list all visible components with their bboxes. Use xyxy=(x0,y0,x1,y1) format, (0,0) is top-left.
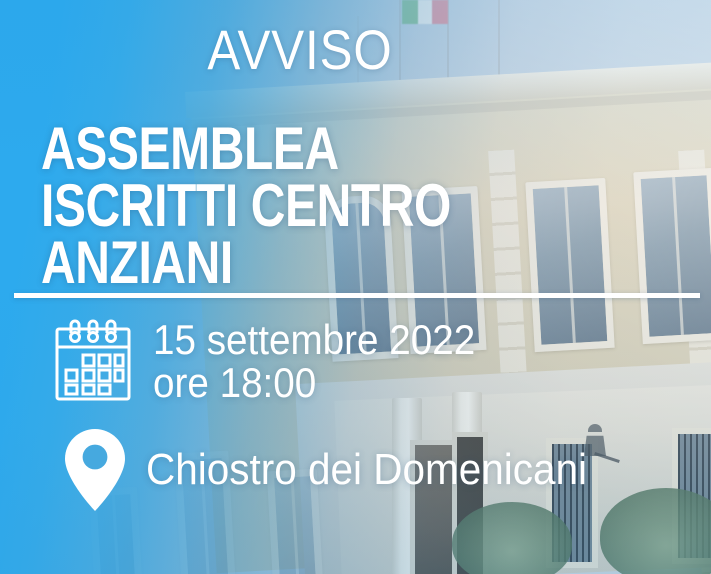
map-pin-icon xyxy=(62,425,128,515)
poster-content: AVVISO ASSEMBLEA ISCRITTI CENTRO ANZIANI xyxy=(0,0,711,574)
date-line-1: 15 settembre 2022 xyxy=(153,318,475,361)
headline: ASSEMBLEA ISCRITTI CENTRO ANZIANI xyxy=(41,120,569,291)
place-row: Chiostro dei Domenicani xyxy=(60,425,625,515)
date-line-2: ore 18:00 xyxy=(153,361,475,404)
date-text: 15 settembre 2022 ore 18:00 xyxy=(153,318,475,404)
headline-line-3: ANZIANI xyxy=(41,234,569,291)
divider-rule xyxy=(14,293,700,298)
headline-line-1: ASSEMBLEA xyxy=(41,120,569,177)
calendar-icon xyxy=(47,317,139,405)
announcement-poster: MUNICIPIO xyxy=(0,0,711,574)
kicker-title: AVVISO xyxy=(36,22,564,78)
headline-line-2: ISCRITTI CENTRO xyxy=(41,177,569,234)
date-row: 15 settembre 2022 ore 18:00 xyxy=(47,317,503,405)
place-text: Chiostro dei Domenicani xyxy=(146,448,587,492)
